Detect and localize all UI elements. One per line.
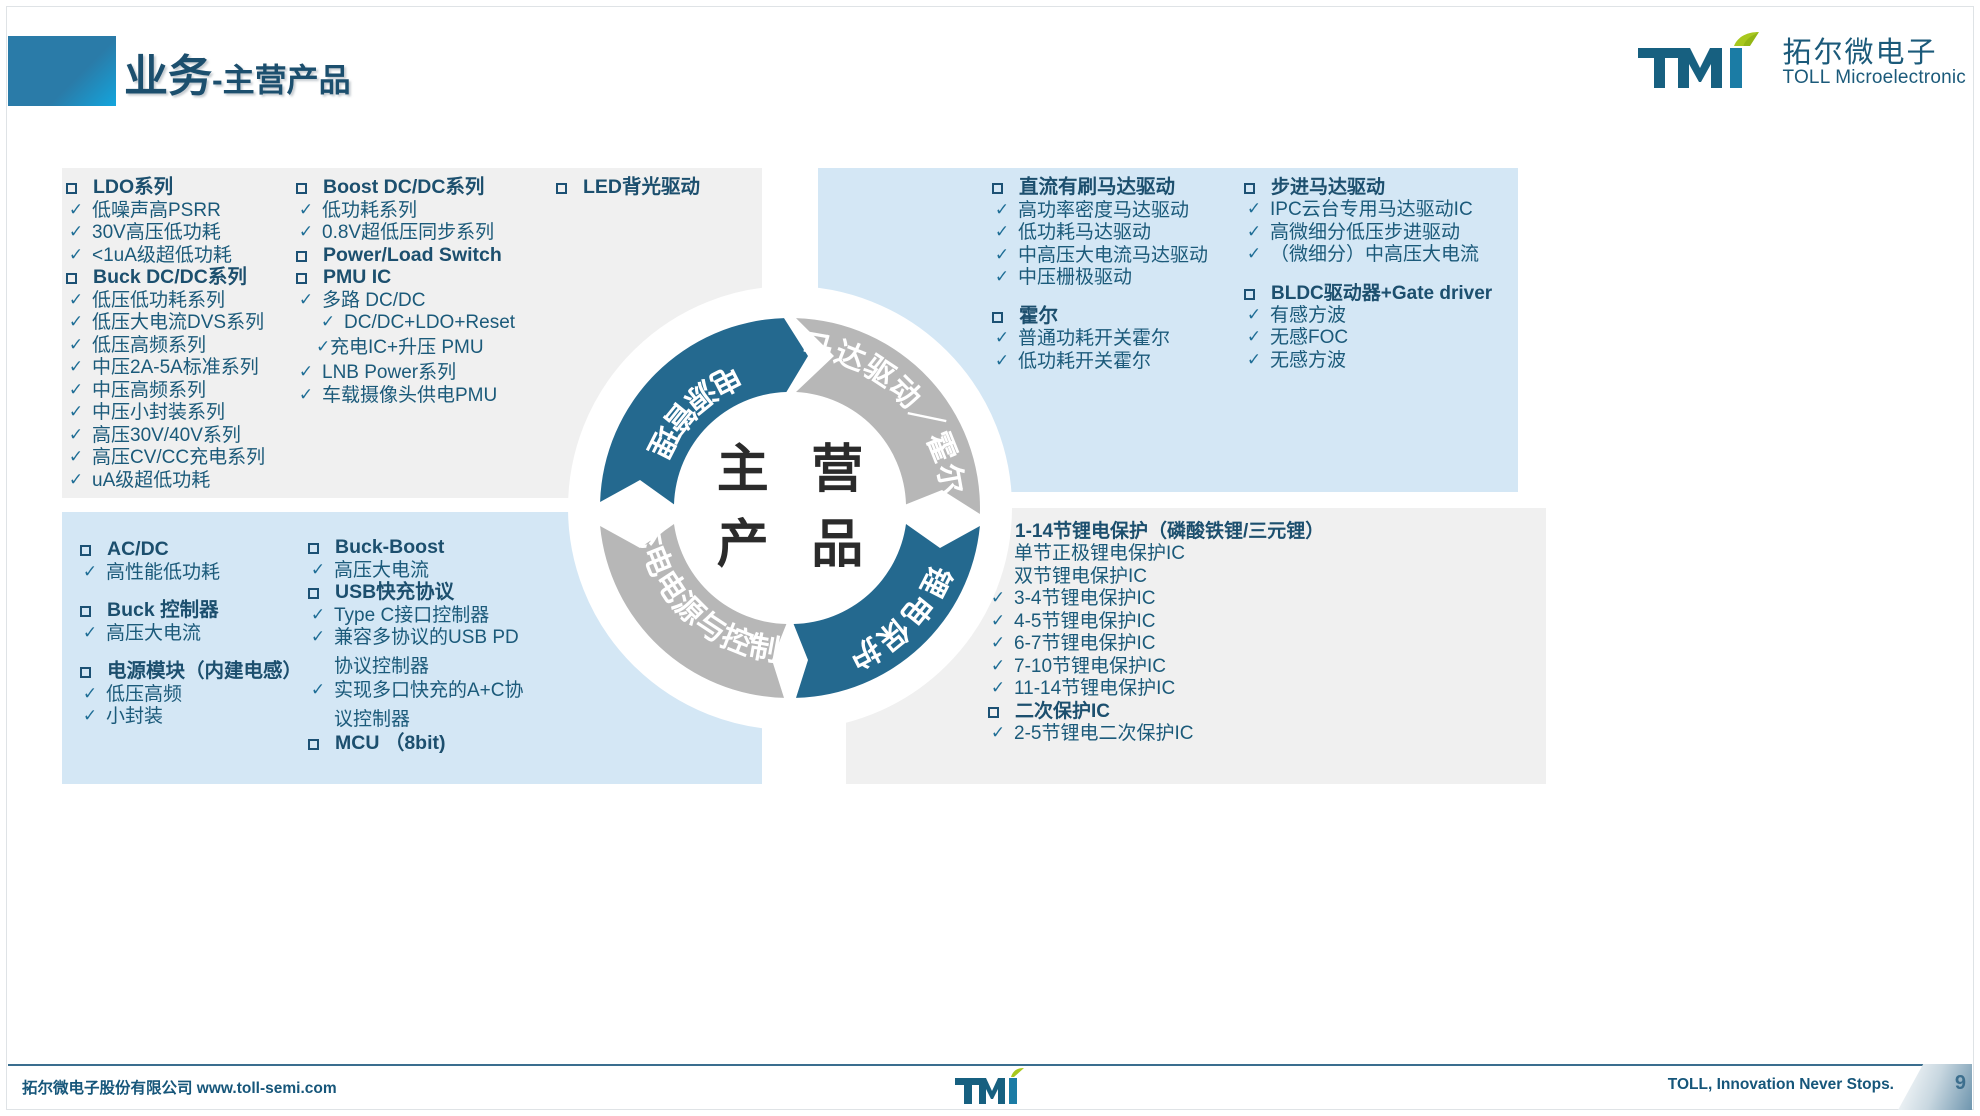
item-label: 中压小封装系列 <box>92 403 225 422</box>
item-label: 低功耗系列 <box>322 201 417 220</box>
heading-label: Power/Load Switch <box>323 246 502 266</box>
heading-label: LED背光驱动 <box>583 178 700 198</box>
square-bullet-icon <box>556 183 567 194</box>
check-icon: ✓ <box>308 681 328 698</box>
motor-item[interactable]: ✓低功耗马达驱动 <box>992 223 1242 242</box>
boost-heading[interactable]: Boost DC/DC系列 <box>296 178 546 198</box>
check-icon: ✓ <box>80 707 100 724</box>
item-label: 高微细分低压步进驱动 <box>1270 223 1460 242</box>
page-title: 业务-主营产品 <box>124 40 351 104</box>
usb-item-continuation[interactable]: 议控制器 <box>308 704 548 731</box>
square-bullet-icon <box>296 183 307 194</box>
stepper-item[interactable]: ✓无感FOC <box>1244 328 1514 347</box>
item-label: 兼容多协议的USB PD <box>334 628 519 647</box>
check-icon: ✓ <box>66 201 86 218</box>
item-label: 有感方波 <box>1270 306 1346 325</box>
battery-item[interactable]: ✓11-14节锂电保护IC <box>988 679 1548 698</box>
check-icon: ✓ <box>66 448 86 465</box>
heading-label: Boost DC/DC系列 <box>323 178 484 198</box>
usb-item[interactable]: ✓Type C接口控制器 <box>308 606 548 625</box>
heading-label: AC/DC <box>107 540 169 560</box>
header-accent-block <box>8 36 116 106</box>
heading-label: USB快充协议 <box>335 583 454 603</box>
acdc-item[interactable]: ✓小封装 <box>80 707 300 726</box>
check-icon: ✓ <box>66 471 86 488</box>
boost-heading[interactable]: Power/Load Switch <box>296 246 546 266</box>
usb-item[interactable]: ✓实现多口快充的A+C协 <box>308 681 548 700</box>
donut-center-label: 主 营 产 品 <box>530 248 1050 768</box>
boost-item[interactable]: ✓低功耗系列 <box>296 201 546 220</box>
boost-item[interactable]: ✓车载摄像头供电PMU <box>296 386 546 405</box>
acdc-heading[interactable]: Buck 控制器 <box>80 601 300 621</box>
square-bullet-icon <box>80 667 91 678</box>
item-label: uA级超低功耗 <box>92 471 210 490</box>
square-bullet-icon <box>66 273 77 284</box>
core-line-2: 产 品 <box>703 508 877 583</box>
stepper-item[interactable]: ✓（微细分）中高压大电流 <box>1244 245 1514 264</box>
ldo-item[interactable]: ✓<1uA级超低功耗 <box>66 246 306 265</box>
footer-tmi-icon <box>955 1068 1025 1108</box>
item-label: 高压30V/40V系列 <box>92 426 241 445</box>
check-icon: ✓ <box>1244 245 1264 262</box>
item-label: IPC云台专用马达驱动IC <box>1270 200 1473 219</box>
ldo-heading[interactable]: Buck DC/DC系列 <box>66 268 306 288</box>
item-label: 0.8V超低压同步系列 <box>322 223 494 242</box>
tmi-mark-icon <box>1638 32 1770 94</box>
list-tl-col1: LDO系列✓低噪声高PSRR✓30V高压低功耗✓<1uA级超低功耗Buck DC… <box>66 178 306 493</box>
acdc-heading[interactable]: AC/DC <box>80 540 300 560</box>
footer-divider <box>8 1064 1972 1066</box>
check-icon: ✓ <box>66 246 86 263</box>
usb-item[interactable]: ✓兼容多协议的USB PD <box>308 628 548 647</box>
acdc-item[interactable]: ✓高压大电流 <box>80 624 300 643</box>
stepper-heading[interactable]: 步进马达驱动 <box>1244 178 1514 197</box>
list-tl-col3: LED背光驱动 <box>556 178 756 201</box>
item-label: 低压大电流DVS系列 <box>92 313 264 332</box>
ldo-item[interactable]: ✓高压CV/CC充电系列 <box>66 448 306 467</box>
heading-label: PMU IC <box>323 268 391 288</box>
check-icon: ✓ <box>316 338 330 355</box>
stepper-heading[interactable]: BLDC驱动器+Gate driver <box>1244 284 1514 303</box>
item-label: <1uA级超低功耗 <box>92 246 232 265</box>
check-icon: ✓ <box>66 381 86 398</box>
logo-name-cn: 拓尔微电子 <box>1782 38 1966 68</box>
battery-item[interactable]: ✓3-4节锂电保护IC <box>988 589 1548 608</box>
square-bullet-icon <box>296 251 307 262</box>
item-label: 多路 DC/DC <box>322 291 425 310</box>
boost-item[interactable]: ✓0.8V超低压同步系列 <box>296 223 546 242</box>
ldo-item[interactable]: ✓中压小封装系列 <box>66 403 306 422</box>
usb-heading[interactable]: USB快充协议 <box>308 583 548 603</box>
motor-item[interactable]: ✓高功率密度马达驱动 <box>992 201 1242 220</box>
battery-item[interactable]: ✓单节正极锂电保护IC <box>988 544 1548 563</box>
check-icon: ✓ <box>66 291 86 308</box>
motor-heading[interactable]: 直流有刷马达驱动 <box>992 178 1242 198</box>
list-tr-col2: 步进马达驱动✓IPC云台专用马达驱动IC✓高微细分低压步进驱动✓（微细分）中高压… <box>1244 178 1514 373</box>
item-label: DC/DC+LDO+Reset <box>344 313 515 332</box>
ldo-heading[interactable]: LDO系列 <box>66 178 306 198</box>
check-icon: ✓ <box>296 223 316 240</box>
check-icon: ✓ <box>296 291 316 308</box>
usb-item[interactable]: ✓高压大电流 <box>308 561 548 580</box>
ldo-item[interactable]: ✓30V高压低功耗 <box>66 223 306 242</box>
square-bullet-icon <box>308 588 319 599</box>
acdc-item[interactable]: ✓低压高频 <box>80 685 300 704</box>
ldo-item[interactable]: ✓低噪声高PSRR <box>66 201 306 220</box>
check-icon: ✓ <box>66 223 86 240</box>
square-bullet-icon <box>66 183 77 194</box>
stepper-item[interactable]: ✓无感方波 <box>1244 351 1514 370</box>
check-icon: ✓ <box>308 561 328 578</box>
check-icon: ✓ <box>1244 223 1264 240</box>
stepper-item[interactable]: ✓IPC云台专用马达驱动IC <box>1244 200 1514 219</box>
ldo-item[interactable]: ✓低压低功耗系列 <box>66 291 306 310</box>
page-number: 9 <box>1955 1072 1966 1095</box>
product-cycle-donut: 电源管理 马达驱动／霍尔 锂电保护 充电电源与控制 主 营 产 品 <box>530 248 1050 768</box>
item-label: 30V高压低功耗 <box>92 223 221 242</box>
heading-label: 电源模块（内建电感） <box>107 662 302 682</box>
boost-item[interactable]: ✓DC/DC+LDO+Reset <box>296 313 546 332</box>
item-label: 低压低功耗系列 <box>92 291 225 310</box>
stepper-item[interactable]: ✓有感方波 <box>1244 306 1514 325</box>
boost-item[interactable]: ✓多路 DC/DC <box>296 291 546 310</box>
ldo-item[interactable]: ✓低压高频系列 <box>66 336 306 355</box>
usb-heading[interactable]: MCU （8bit) <box>308 734 548 754</box>
company-logo: 拓尔微电子 TOLL Microelectronic <box>1638 26 1966 100</box>
item-label: 小封装 <box>106 707 163 726</box>
heading-label: Buck-Boost <box>335 538 444 558</box>
ldo-item[interactable]: ✓低压大电流DVS系列 <box>66 313 306 332</box>
item-label: 高功率密度马达驱动 <box>1018 201 1189 220</box>
ldo-item[interactable]: ✓中压高频系列 <box>66 381 306 400</box>
list-bl-col1: AC/DC✓高性能低功耗Buck 控制器✓高压大电流电源模块（内建电感）✓低压高… <box>80 540 300 730</box>
check-icon: ✓ <box>992 201 1012 218</box>
check-icon: ✓ <box>80 685 100 702</box>
item-label: 无感方波 <box>1270 351 1346 370</box>
acdc-heading[interactable]: 电源模块（内建电感） <box>80 662 300 682</box>
heading-label: 直流有刷马达驱动 <box>1019 178 1175 198</box>
square-bullet-icon <box>80 545 91 556</box>
ldo-item[interactable]: ✓高压30V/40V系列 <box>66 426 306 445</box>
boost-heading[interactable]: PMU IC <box>296 268 546 288</box>
item-label: 中压2A-5A标准系列 <box>92 358 259 377</box>
item-label: 高性能低功耗 <box>106 563 220 582</box>
square-bullet-icon <box>80 606 91 617</box>
check-icon: ✓ <box>1244 328 1264 345</box>
check-icon: ✓ <box>66 358 86 375</box>
check-icon: ✓ <box>66 313 86 330</box>
item-label: LNB Power系列 <box>322 363 456 382</box>
heading-label: 1-14节锂电保护（磷酸铁锂/三元锂） <box>1015 522 1324 541</box>
usb-item-continuation[interactable]: 协议控制器 <box>308 651 548 678</box>
list-spacer <box>1244 268 1514 284</box>
page-title-sub: 主营产品 <box>223 62 351 98</box>
item-label: 低功耗马达驱动 <box>1018 223 1151 242</box>
item-label: （微细分）中高压大电流 <box>1270 245 1479 264</box>
item-label: 高压大电流 <box>106 624 201 643</box>
heading-label: MCU （8bit) <box>335 734 446 754</box>
square-bullet-icon <box>296 273 307 284</box>
check-icon: ✓ <box>66 336 86 353</box>
stepper-item[interactable]: ✓高微细分低压步进驱动 <box>1244 223 1514 242</box>
logo-wordmark: 拓尔微电子 TOLL Microelectronic <box>1782 38 1966 88</box>
item-label: 低压高频系列 <box>92 336 206 355</box>
list-tl-col2: Boost DC/DC系列✓低功耗系列✓0.8V超低压同步系列Power/Loa… <box>296 178 546 408</box>
battery-item[interactable]: ✓7-10节锂电保护IC <box>988 657 1548 676</box>
ldo-item[interactable]: ✓uA级超低功耗 <box>66 471 306 490</box>
page-title-main: 业务 <box>124 52 212 101</box>
check-icon: ✓ <box>308 606 328 623</box>
check-icon: ✓ <box>296 363 316 380</box>
list-br-col1: 1-14节锂电保护（磷酸铁锂/三元锂）✓单节正极锂电保护IC✓双节锂电保护IC✓… <box>988 522 1548 746</box>
heading-label: BLDC驱动器+Gate driver <box>1271 284 1492 303</box>
core-line-1: 主 营 <box>703 433 877 508</box>
check-icon: ✓ <box>66 403 86 420</box>
list-bl-col2: Buck-Boost✓高压大电流USB快充协议✓Type C接口控制器✓兼容多协… <box>308 538 548 757</box>
heading-label: Buck DC/DC系列 <box>93 268 247 288</box>
heading-label: 步进马达驱动 <box>1271 178 1385 197</box>
square-bullet-icon <box>308 543 319 554</box>
item-label: 实现多口快充的A+C协 <box>334 681 524 700</box>
heading-label: Buck 控制器 <box>107 601 219 621</box>
footer-company: 拓尔微电子股份有限公司 www.toll-semi.com <box>22 1076 337 1098</box>
square-bullet-icon <box>1244 183 1255 194</box>
battery-item[interactable]: ✓6-7节锂电保护IC <box>988 634 1548 653</box>
item-label: 高压CV/CC充电系列 <box>92 448 265 467</box>
acdc-item[interactable]: ✓高性能低功耗 <box>80 563 300 582</box>
footer-slogan: TOLL, Innovation Never Stops. <box>1668 1076 1894 1094</box>
item-label: 高压大电流 <box>334 561 429 580</box>
usb-heading[interactable]: Buck-Boost <box>308 538 548 558</box>
check-icon: ✓ <box>318 313 338 330</box>
battery-item[interactable]: ✓2-5节锂电二次保护IC <box>988 724 1548 743</box>
boost-item[interactable]: ✓充电IC+升压 PMU <box>296 338 546 357</box>
battery-item[interactable]: ✓双节锂电保护IC <box>988 567 1548 586</box>
item-label: 车载摄像头供电PMU <box>322 386 497 405</box>
square-bullet-icon <box>1244 289 1255 300</box>
boost-item[interactable]: ✓LNB Power系列 <box>296 363 546 382</box>
item-label: 中压高频系列 <box>92 381 206 400</box>
battery-item[interactable]: ✓4-5节锂电保护IC <box>988 612 1548 631</box>
ldo-item[interactable]: ✓中压2A-5A标准系列 <box>66 358 306 377</box>
led-heading[interactable]: LED背光驱动 <box>556 178 756 198</box>
item-label: 低噪声高PSRR <box>92 201 221 220</box>
logo-name-en: TOLL Microelectronic <box>1782 68 1966 88</box>
check-icon: ✓ <box>296 201 316 218</box>
check-icon: ✓ <box>80 624 100 641</box>
square-bullet-icon <box>992 183 1003 194</box>
check-icon: ✓ <box>1244 351 1264 368</box>
item-label: 无感FOC <box>1270 328 1348 347</box>
page-title-separator: - <box>212 62 223 98</box>
battery-heading[interactable]: 1-14节锂电保护（磷酸铁锂/三元锂） <box>988 522 1548 541</box>
square-bullet-icon <box>308 739 319 750</box>
check-icon: ✓ <box>80 563 100 580</box>
heading-label: LDO系列 <box>93 178 173 198</box>
item-label: 充电IC+升压 PMU <box>330 338 484 357</box>
item-label: 低压高频 <box>106 685 182 704</box>
check-icon: ✓ <box>1244 200 1264 217</box>
check-icon: ✓ <box>308 628 328 645</box>
item-label: Type C接口控制器 <box>334 606 489 625</box>
check-icon: ✓ <box>1244 306 1264 323</box>
check-icon: ✓ <box>296 386 316 403</box>
check-icon: ✓ <box>992 223 1012 240</box>
battery-heading[interactable]: 二次保护IC <box>988 702 1548 721</box>
check-icon: ✓ <box>66 426 86 443</box>
slide-root: 业务-主营产品 拓尔微电子 TOLL Microelectronic <box>0 0 1980 1116</box>
